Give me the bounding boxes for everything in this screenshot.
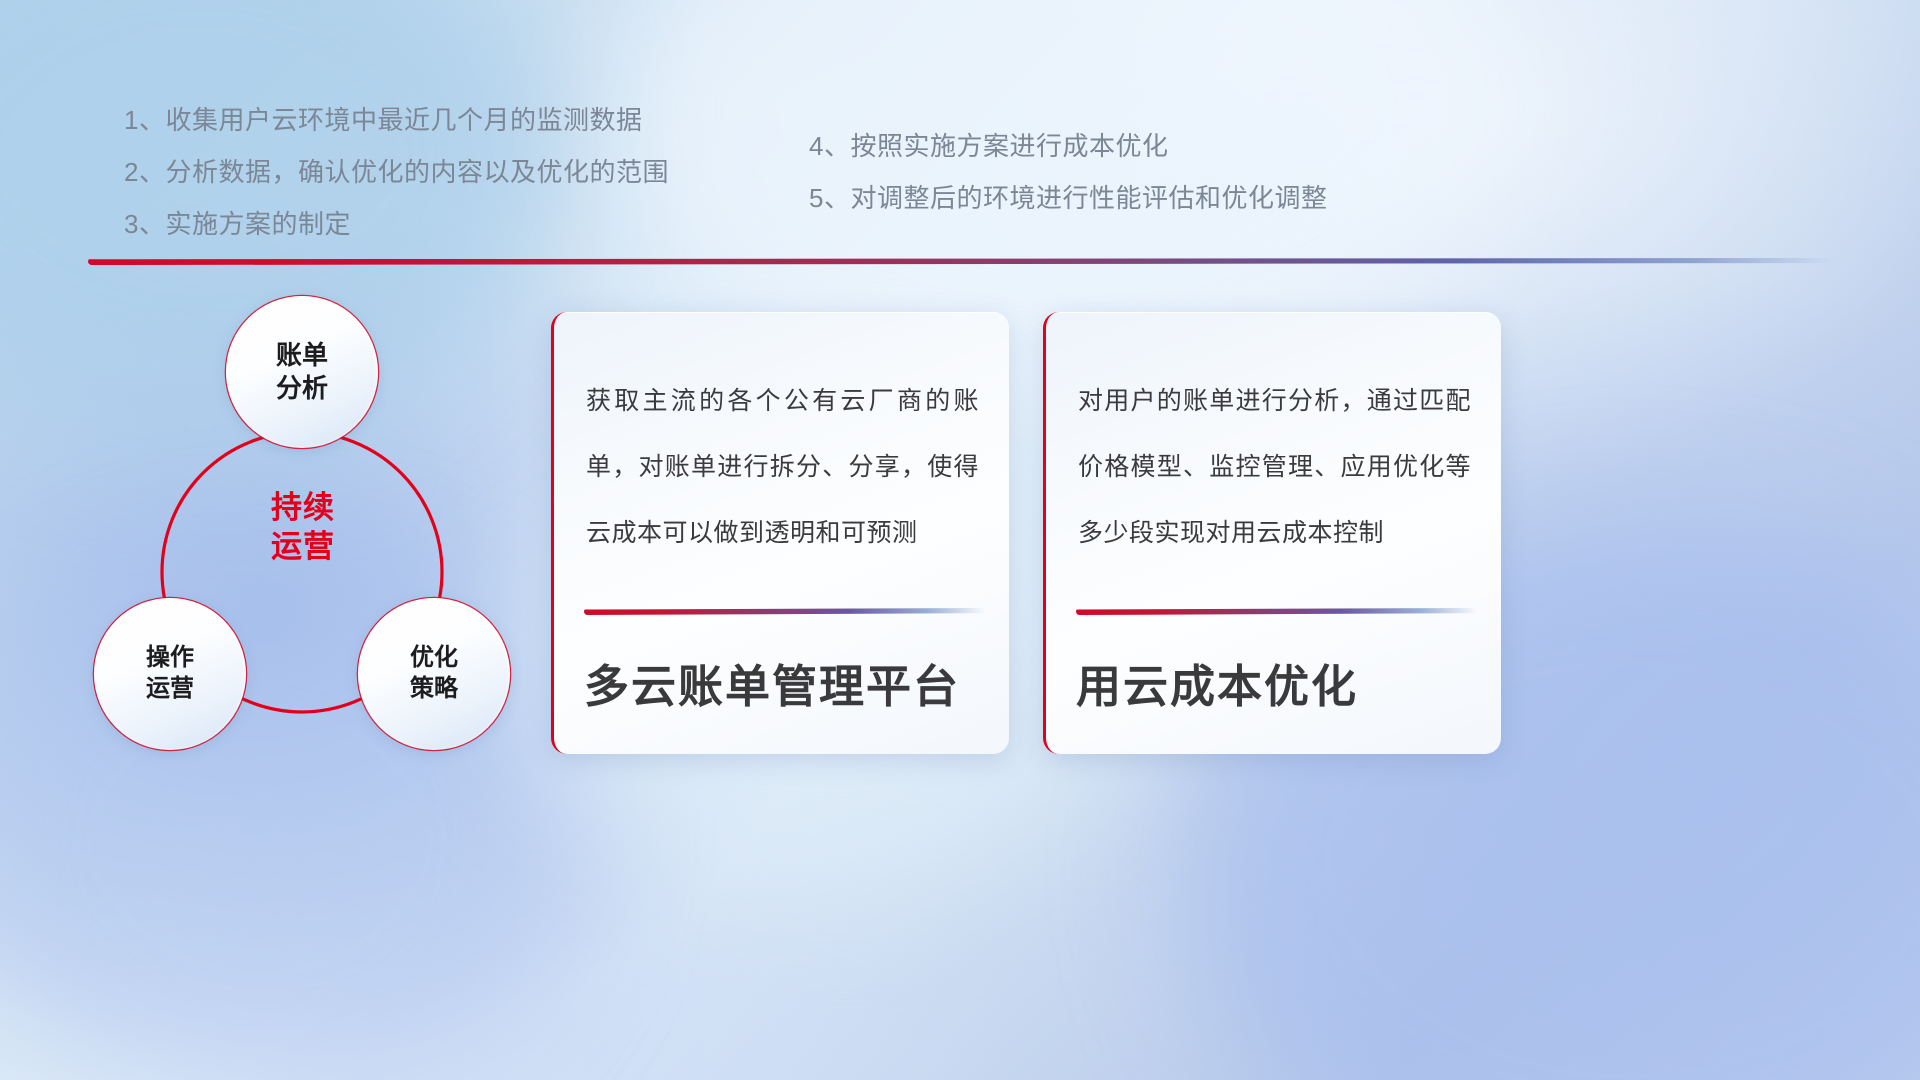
card-divider xyxy=(1076,608,1477,615)
bubble-label-line1: 账单 xyxy=(276,339,328,372)
bubble-label-line2: 策略 xyxy=(410,674,458,705)
bubble-label-line1: 优化 xyxy=(410,643,458,674)
card-title: 多云账单管理平台 xyxy=(584,650,985,715)
info-card-multicloud-billing[interactable]: 获取主流的各个公有云厂商的账单，对账单进行拆分、分享，使得云成本可以做到透明和可… xyxy=(551,312,1009,754)
venn-bubble-operations[interactable]: 操作 运营 xyxy=(94,598,246,750)
venn-diagram: 账单 分析 操作 运营 优化 策略 持续 运营 xyxy=(78,282,538,782)
step-item: 2、分析数据，确认优化的内容以及优化的范围 xyxy=(124,146,669,198)
step-item: 3、实施方案的制定 xyxy=(124,198,669,250)
card-divider xyxy=(584,608,985,615)
venn-center-label: 持续 运营 xyxy=(238,472,368,582)
step-item: 4、按照实施方案进行成本优化 xyxy=(809,120,1327,172)
info-card-cloud-cost-optimization[interactable]: 对用户的账单进行分析，通过匹配价格模型、监控管理、应用优化等多少段实现对用云成本… xyxy=(1043,312,1501,754)
bubble-label-line2: 运营 xyxy=(146,674,194,705)
bubble-label-line1: 操作 xyxy=(146,643,194,674)
step-item: 5、对调整后的环境进行性能评估和优化调整 xyxy=(809,172,1327,224)
venn-bubble-bill-analysis[interactable]: 账单 分析 xyxy=(226,296,378,448)
card-title: 用云成本优化 xyxy=(1076,650,1477,715)
slide-canvas: 1、收集用户云环境中最近几个月的监测数据 2、分析数据，确认优化的内容以及优化的… xyxy=(0,0,1920,1080)
step-item: 1、收集用户云环境中最近几个月的监测数据 xyxy=(124,94,669,146)
venn-bubble-optimization-strategy[interactable]: 优化 策略 xyxy=(358,598,510,750)
bubble-label-line2: 分析 xyxy=(276,372,328,405)
venn-center-line1: 持续 xyxy=(271,488,335,527)
steps-list-left: 1、收集用户云环境中最近几个月的监测数据 2、分析数据，确认优化的内容以及优化的… xyxy=(124,94,669,250)
card-body-text: 对用户的账单进行分析，通过匹配价格模型、监控管理、应用优化等多少段实现对用云成本… xyxy=(1078,368,1471,566)
section-divider xyxy=(88,258,1833,265)
venn-center-line2: 运营 xyxy=(271,527,335,566)
card-body-text: 获取主流的各个公有云厂商的账单，对账单进行拆分、分享，使得云成本可以做到透明和可… xyxy=(586,368,979,566)
steps-list-right: 4、按照实施方案进行成本优化 5、对调整后的环境进行性能评估和优化调整 xyxy=(809,120,1327,224)
